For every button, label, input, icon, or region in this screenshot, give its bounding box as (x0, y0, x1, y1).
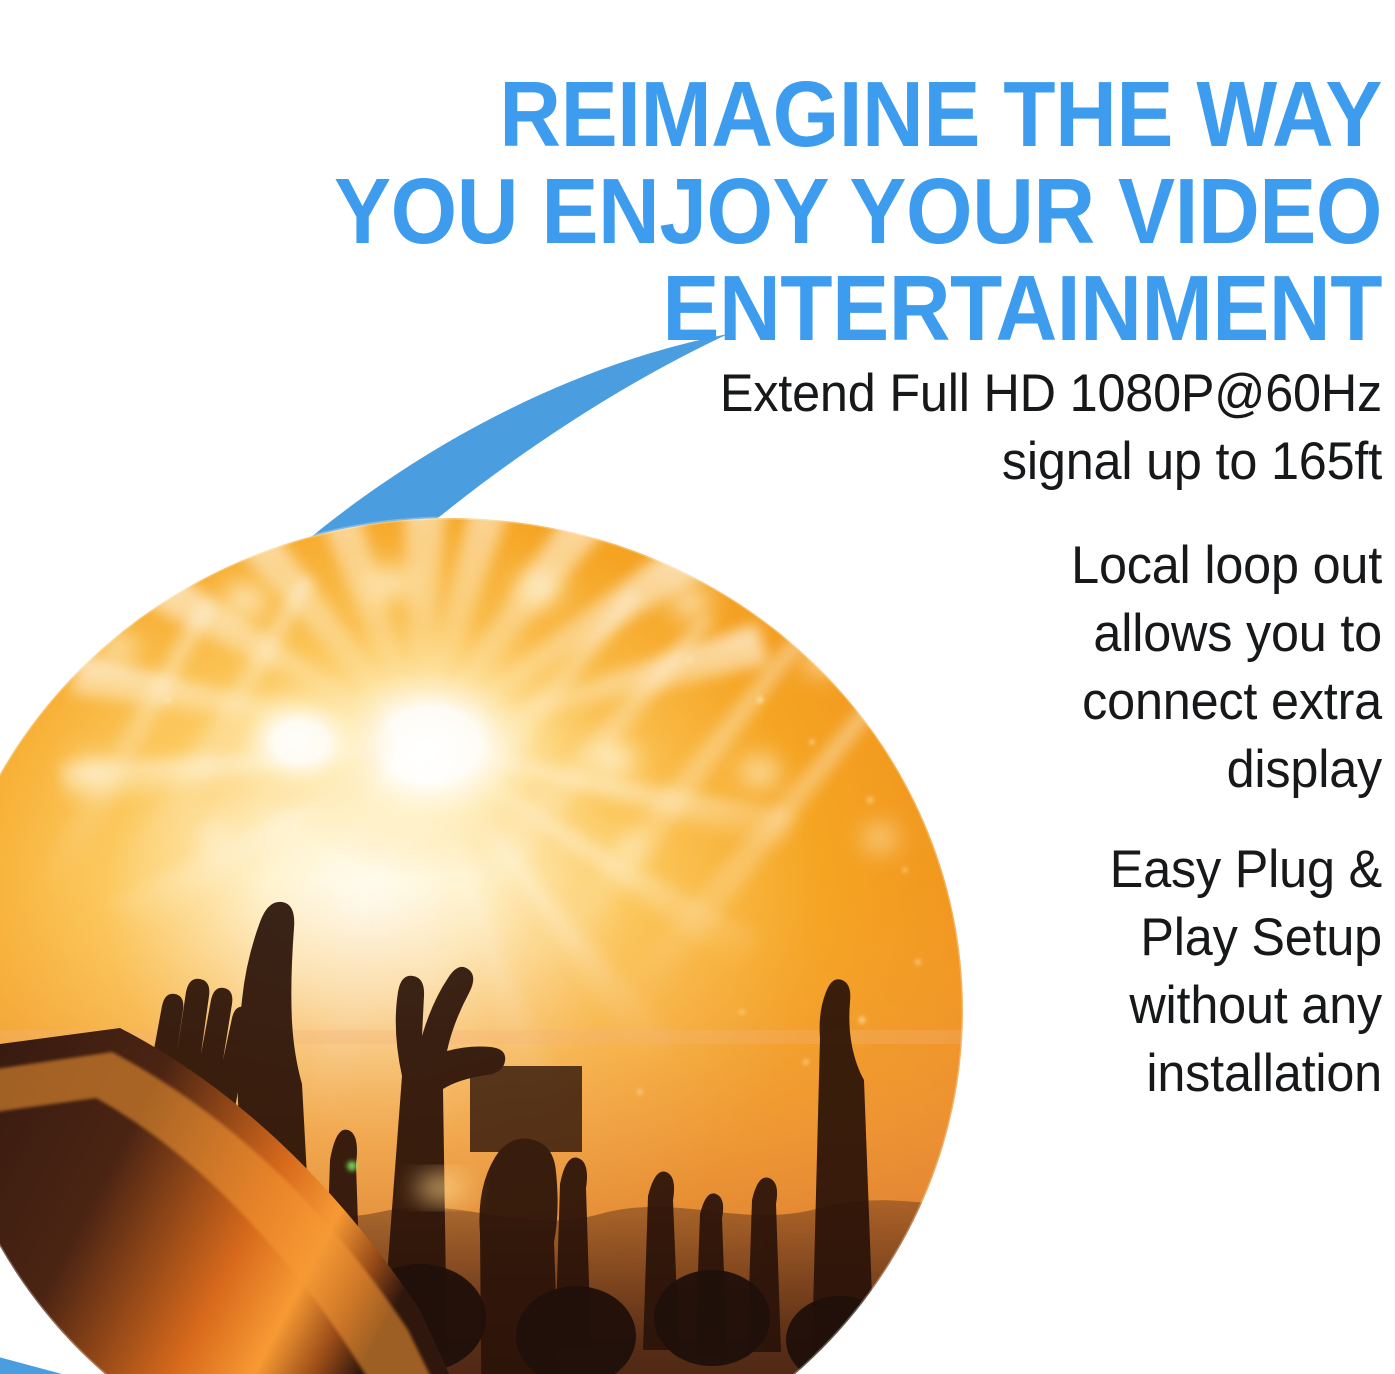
feature-extend-range: Extend Full HD 1080P@60Hz signal up to 1… (717, 360, 1382, 496)
headline-line-1: REIMAGINE THE WAY (111, 66, 1382, 163)
feature-1-line-2: signal up to 165ft (717, 428, 1382, 496)
headline-line-3: ENTERTAINMENT (111, 260, 1382, 357)
feature-2-line-2: allows you to (717, 600, 1382, 668)
feature-local-loop-out: Local loop out allows you to connect ext… (717, 532, 1382, 804)
feature-3-line-4: installation (717, 1040, 1382, 1108)
feature-1-line-1: Extend Full HD 1080P@60Hz (717, 360, 1382, 428)
feature-2-line-4: display (717, 736, 1382, 804)
feature-plug-and-play: Easy Plug & Play Setup without any insta… (717, 836, 1382, 1108)
feature-3-line-3: without any (717, 972, 1382, 1040)
blue-swoosh-icon (0, 334, 728, 1190)
crowd-silhouette (0, 1200, 1040, 1374)
page-title: REIMAGINE THE WAY YOU ENJOY YOUR VIDEO E… (111, 62, 1382, 357)
foreground-arm (0, 1028, 470, 1374)
feature-3-line-2: Play Setup (717, 904, 1382, 972)
headline-line-2: YOU ENJOY YOUR VIDEO (111, 163, 1382, 260)
marketing-banner: REIMAGINE THE WAY YOU ENJOY YOUR VIDEO E… (0, 0, 1395, 1374)
feature-3-line-1: Easy Plug & (717, 836, 1382, 904)
feature-2-line-3: connect extra (717, 668, 1382, 736)
feature-2-line-1: Local loop out (717, 532, 1382, 600)
blue-swoosh-corner-accent (0, 1352, 62, 1374)
